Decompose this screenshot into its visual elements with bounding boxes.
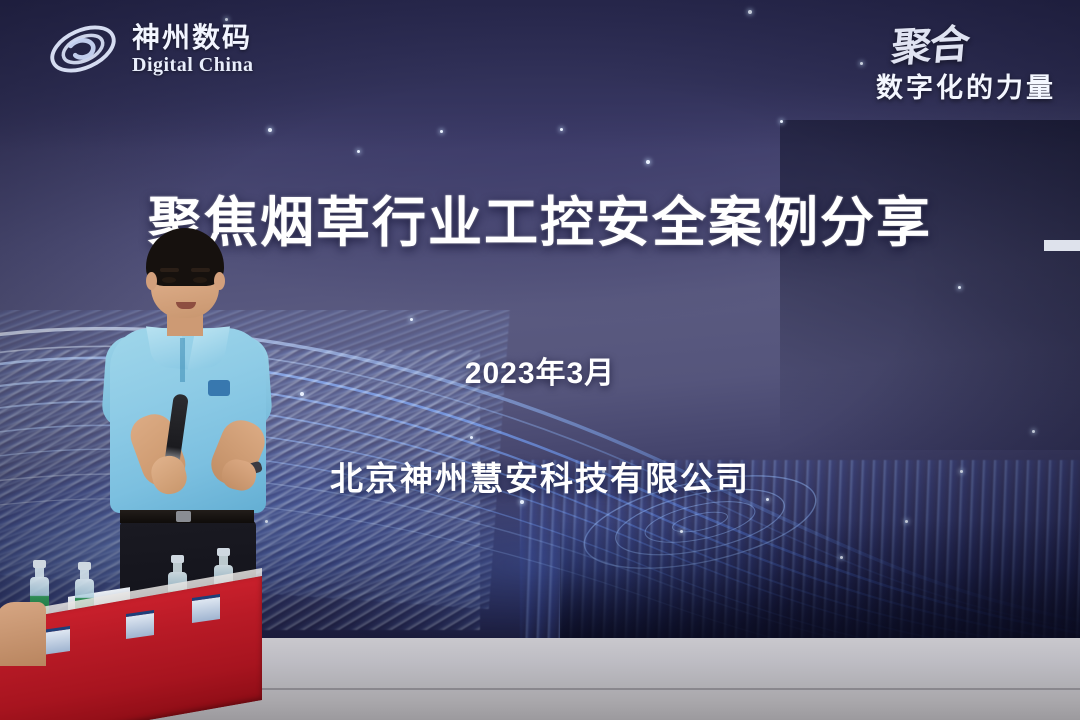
- name-card: [192, 594, 220, 623]
- bottle-cap: [217, 548, 230, 556]
- particle-dot: [300, 392, 304, 396]
- particle-dot: [646, 160, 650, 164]
- event-logo-calligraphy: 聚合: [873, 12, 971, 75]
- presenter-eyebrow-left: [160, 268, 179, 272]
- particle-dot: [440, 130, 443, 133]
- presenter-hair: [146, 228, 224, 286]
- presenter-eye-right: [193, 277, 207, 283]
- particle-dot: [520, 500, 524, 504]
- fiber-shadow: [560, 520, 1080, 640]
- particle-dot: [560, 128, 563, 131]
- presenter-shirt-logo: [208, 380, 230, 396]
- presenter-eyebrow-right: [191, 268, 210, 272]
- particle-dot: [958, 286, 961, 289]
- particle-dot: [905, 520, 908, 523]
- swirl-galaxy-icon: [44, 18, 122, 80]
- particle-dot: [470, 436, 473, 439]
- presenter-ear-left: [146, 272, 157, 290]
- particle-dot: [410, 318, 413, 321]
- particle-dot: [680, 530, 683, 533]
- particle-dot: [1032, 430, 1035, 433]
- screen-edge-highlight-bar: [1044, 240, 1080, 251]
- digital-china-english-name: Digital China: [132, 55, 254, 75]
- presenter-belt-buckle: [176, 511, 191, 522]
- digital-china-chinese-name: 神州数码: [132, 24, 254, 52]
- conference-stage-photo: 神州数码 Digital China 聚合 数字化的力量 聚焦烟草行业工控安全案…: [0, 0, 1080, 720]
- presenter-shirt-placket: [180, 338, 185, 382]
- particle-dot: [268, 128, 272, 132]
- event-logo: 聚合 数字化的力量: [876, 14, 1056, 105]
- particle-dot: [860, 62, 863, 65]
- particle-dot: [357, 150, 360, 153]
- particle-dot: [748, 10, 752, 14]
- name-card: [42, 626, 70, 655]
- digital-china-wordmark: 神州数码 Digital China: [132, 24, 254, 75]
- presenter-ear-right: [214, 272, 225, 290]
- seated-attendee: [0, 602, 46, 666]
- particle-dot: [780, 120, 783, 123]
- presenter-eye-left: [162, 277, 176, 283]
- particle-dot: [840, 556, 843, 559]
- name-card: [126, 610, 154, 639]
- digital-china-logo: 神州数码 Digital China: [44, 18, 254, 80]
